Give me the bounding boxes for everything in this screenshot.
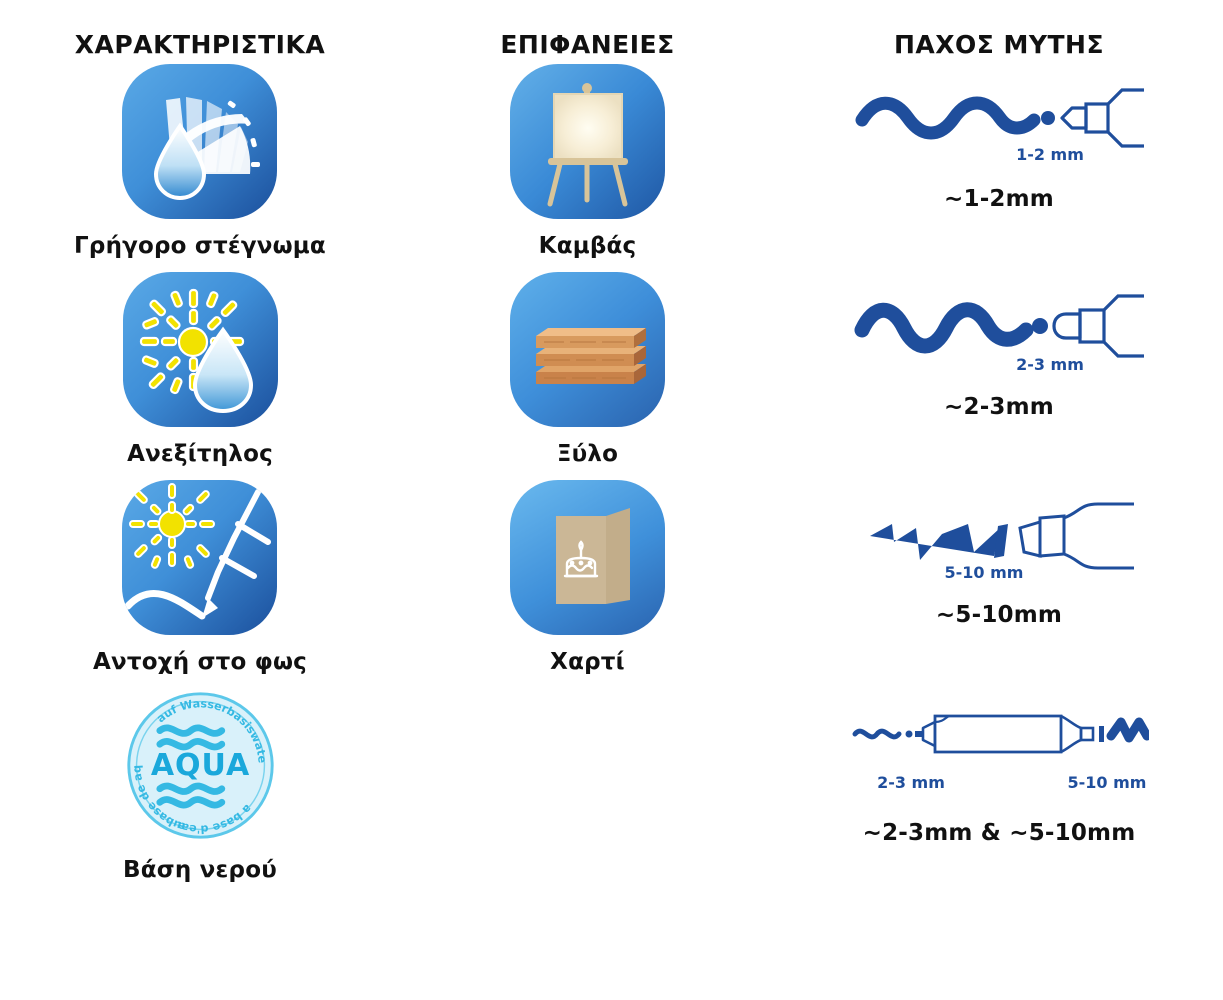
aqua-waterbased-badge: AQUA auf Wasserbasis waterbased a base d… xyxy=(123,688,278,843)
tip-label-5-10mm: ~5-10mm xyxy=(936,602,1062,628)
column-heading-tip-widths: ΠΑΧΟΣ ΜΥΤΗΣ xyxy=(894,26,1104,64)
bullet-tip-1-2mm-icon: 1-2 mm xyxy=(849,64,1149,174)
tip-art-label-1-2mm: 1-2 mm xyxy=(1016,145,1084,164)
waterproof-sun-drop-icon xyxy=(123,272,278,427)
quick-drying-icon xyxy=(122,64,277,219)
tip-art-label-5-10mm: 5-10 mm xyxy=(945,563,1024,582)
surface-label-paper: Χαρτί xyxy=(550,649,625,675)
canvas-easel-icon xyxy=(510,64,665,219)
column-heading-features: ΧΑΡΑΚΤΗΡΙΣΤΙΚΑ xyxy=(75,26,325,64)
column-surfaces: ΕΠΙΦΑΝΕΙΕΣ xyxy=(400,26,775,1000)
aqua-center-text: AQUA xyxy=(150,748,249,783)
paper-card-icon xyxy=(510,480,665,635)
tip-art-label-right-5-10mm: 5-10 mm xyxy=(1068,773,1147,792)
tip-label-1-2mm: ~1-2mm xyxy=(944,186,1054,212)
surface-label-wood: Ξύλο xyxy=(557,441,618,467)
surface-label-canvas: Καμβάς xyxy=(539,233,637,259)
column-features: ΧΑΡΑΚΤΗΡΙΣΤΙΚΑ xyxy=(0,26,400,1000)
tip-row-2-3mm: 2-3 mm ~2-3mm xyxy=(849,272,1149,480)
tip-art-label-left-2-3mm: 2-3 mm xyxy=(877,773,945,792)
bullet-tip-2-3mm-icon: 2-3 mm xyxy=(849,272,1149,382)
surface-row-wood: Ξύλο xyxy=(510,272,665,480)
tip-art-label-2-3mm: 2-3 mm xyxy=(1016,355,1084,374)
column-tip-widths: ΠΑΧΟΣ ΜΥΤΗΣ 1-2 mm ~1-2mm xyxy=(775,26,1223,1000)
feature-label-lightfast: Αντοχή στο φως xyxy=(93,649,307,675)
tip-row-double-ended: 2-3 mm 5-10 mm ~2-3mm & ~5-10mm xyxy=(849,688,1149,896)
tip-label-double-ended: ~2-3mm & ~5-10mm xyxy=(863,820,1136,846)
tip-row-5-10mm: 5-10 mm ~5-10mm xyxy=(849,480,1149,688)
lightfast-sun-marker-icon xyxy=(122,480,277,635)
wood-planks-icon xyxy=(510,272,665,427)
surface-row-canvas: Καμβάς xyxy=(510,64,665,272)
feature-row-waterproof: Ανεξίτηλος xyxy=(123,272,278,480)
column-heading-surfaces: ΕΠΙΦΑΝΕΙΕΣ xyxy=(500,26,674,64)
tip-row-1-2mm: 1-2 mm ~1-2mm xyxy=(849,64,1149,272)
feature-label-waterproof: Ανεξίτηλος xyxy=(127,441,273,467)
infographic-board: ΧΑΡΑΚΤΗΡΙΣΤΙΚΑ xyxy=(0,0,1223,1000)
surface-row-paper: Χαρτί xyxy=(510,480,665,688)
feature-label-waterbased: Βάση νερού xyxy=(123,857,277,883)
double-ended-marker-icon: 2-3 mm 5-10 mm xyxy=(849,688,1149,808)
columns-container: ΧΑΡΑΚΤΗΡΙΣΤΙΚΑ xyxy=(0,0,1223,1000)
feature-row-waterbased: AQUA auf Wasserbasis waterbased a base d… xyxy=(123,688,278,896)
feature-row-quick-drying: Γρήγορο στέγνωμα xyxy=(74,64,326,272)
tip-label-2-3mm: ~2-3mm xyxy=(944,394,1054,420)
feature-row-lightfast: Αντοχή στο φως xyxy=(93,480,307,688)
chisel-tip-5-10mm-icon: 5-10 mm xyxy=(849,480,1149,590)
feature-label-quick-drying: Γρήγορο στέγνωμα xyxy=(74,233,326,259)
